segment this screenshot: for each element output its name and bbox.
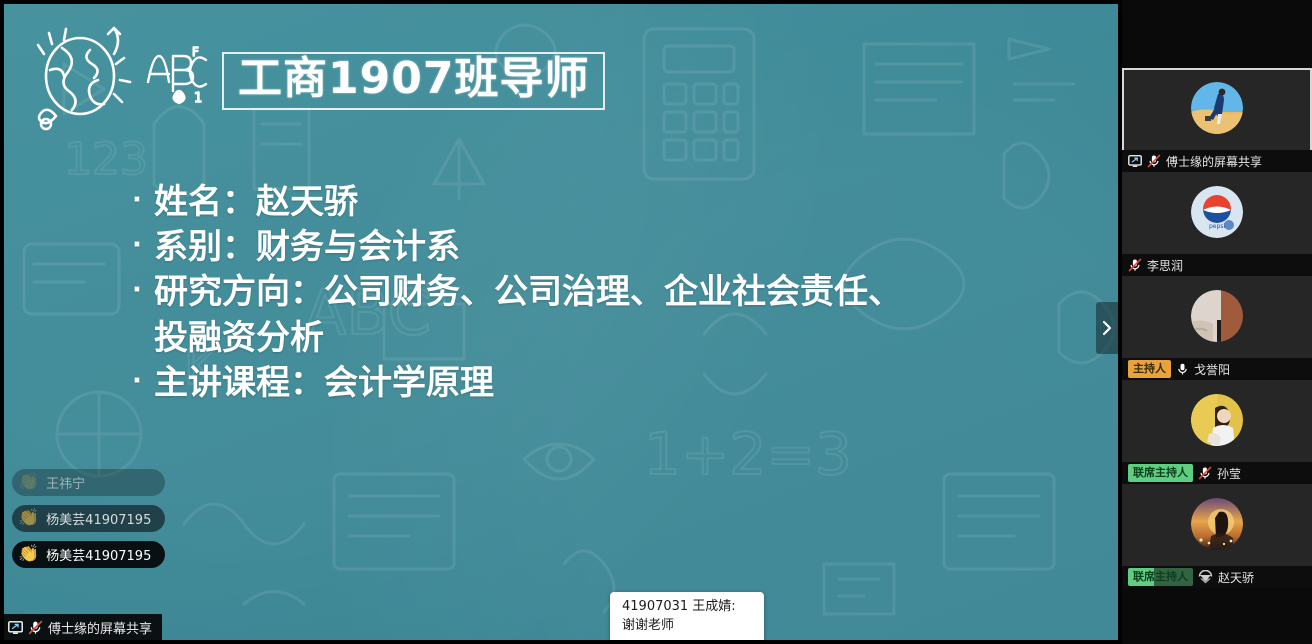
collapse-panel-button[interactable]	[1096, 302, 1118, 354]
svg-text:F: F	[192, 45, 199, 59]
share-bar-label: 傅士缘的屏幕共享	[48, 618, 152, 637]
avatar-wrap	[1122, 68, 1312, 148]
svg-text:1: 1	[194, 91, 202, 106]
avatar-wrap	[1122, 380, 1312, 460]
shared-screen-area[interactable]: ABC 123 1+2=3 K	[4, 4, 1118, 640]
bullet-marker: ·	[132, 180, 154, 220]
reaction-bubble: 👏 杨美芸41907195	[12, 541, 165, 568]
avatar-wrap	[1122, 276, 1312, 356]
chat-sender: 41907031 王成婧:	[622, 598, 752, 617]
globe-doodle-icon	[28, 24, 136, 132]
screen-share-status-bar: 傅士缘的屏幕共享	[4, 614, 162, 640]
participant-name-bar: 联席主持人 赵天骄	[1122, 566, 1312, 588]
reaction-bubble-list: 👏 王祎宁 👏 杨美芸41907195 👏 杨美芸41907195	[12, 469, 165, 568]
clap-icon: 👏	[18, 510, 39, 527]
mic-on-icon	[1176, 362, 1189, 376]
participant-rail[interactable]: 傅士缘的屏幕共享 pepsi	[1122, 0, 1312, 644]
meeting-window: ABC 123 1+2=3 K	[0, 0, 1312, 644]
presentation-slide: ABC 123 1+2=3 K	[4, 4, 1118, 640]
slide-header: F 1 工商1907班导师	[28, 24, 605, 132]
headset-icon	[1198, 570, 1213, 584]
avatar-wrap	[1122, 484, 1312, 564]
reaction-bubble: 👏 杨美芸41907195	[12, 505, 165, 532]
mic-muted-icon	[1128, 258, 1142, 272]
host-badge: 主持人	[1128, 360, 1171, 378]
svg-text:123: 123	[64, 134, 148, 185]
avatar	[1191, 498, 1243, 550]
reaction-name: 杨美芸41907195	[46, 509, 151, 528]
bullet-text: 研究方向：公司财务、公司治理、企业社会责任、	[154, 270, 1032, 315]
bullet-text: 姓名：赵天骄	[154, 180, 1032, 225]
avatar	[1191, 394, 1243, 446]
participant-tile[interactable]: 傅士缘的屏幕共享	[1122, 68, 1312, 172]
participant-name-bar: 主持人 戈誉阳	[1122, 358, 1312, 380]
bullet-text: 主讲课程：会计学原理	[154, 361, 1032, 406]
participant-name-bar: 联席主持人 孙莹	[1122, 462, 1312, 484]
chevron-right-icon	[1101, 320, 1113, 336]
participant-name: 孙莹	[1217, 465, 1241, 482]
avatar	[1191, 290, 1243, 342]
abc-doodle-icon: F 1	[142, 44, 208, 106]
participant-name-bar: 傅士缘的屏幕共享	[1122, 150, 1312, 172]
participant-name: 戈誉阳	[1194, 361, 1230, 378]
participant-tile[interactable]: pepsi 李思润	[1122, 172, 1312, 276]
page-title: 工商1907班导师	[238, 56, 589, 102]
mic-muted-icon	[28, 620, 43, 635]
cohost-badge: 联席主持人	[1128, 568, 1193, 586]
svg-text:pepsi: pepsi	[1209, 223, 1225, 230]
participant-tile[interactable]: 联席主持人 赵天骄	[1122, 484, 1312, 588]
participant-name: 李思润	[1147, 257, 1183, 274]
participant-name: 傅士缘的屏幕共享	[1166, 153, 1262, 170]
reaction-name: 王祎宁	[46, 473, 85, 492]
bullet-item: · 主讲课程：会计学原理	[132, 361, 1032, 406]
clap-icon: 👏	[18, 474, 39, 491]
mic-muted-icon	[1198, 466, 1212, 480]
chat-text: 谢谢老师	[622, 617, 752, 636]
participant-name-bar: 李思润	[1122, 254, 1312, 276]
bullet-item: · 系别：财务与会计系	[132, 225, 1032, 270]
bullet-item: · 姓名：赵天骄	[132, 180, 1032, 225]
chat-message-popup[interactable]: 41907031 王成婧: 谢谢老师	[610, 592, 764, 640]
mic-muted-icon	[1147, 154, 1161, 168]
slide-title-box: 工商1907班导师	[222, 52, 605, 110]
avatar: pepsi	[1191, 186, 1243, 238]
participant-tile[interactable]: 主持人 戈誉阳	[1122, 276, 1312, 380]
bullet-text: 投融资分析	[154, 316, 1032, 361]
cohost-badge: 联席主持人	[1128, 464, 1193, 482]
bullet-marker: ·	[132, 361, 154, 401]
bullet-item: · 研究方向：公司财务、公司治理、企业社会责任、	[132, 270, 1032, 315]
participant-name: 赵天骄	[1218, 569, 1254, 586]
reaction-bubble: 👏 王祎宁	[12, 469, 165, 496]
bullet-marker: ·	[132, 270, 154, 310]
avatar-wrap: pepsi	[1122, 172, 1312, 252]
bullet-item-continuation: 投融资分析	[132, 316, 1032, 361]
clap-icon: 👏	[18, 546, 39, 563]
bullet-marker: ·	[132, 225, 154, 265]
participant-tile[interactable]: 联席主持人 孙莹	[1122, 380, 1312, 484]
svg-text:1+2=3: 1+2=3	[644, 420, 852, 488]
reaction-name: 杨美芸41907195	[46, 545, 151, 564]
screen-share-icon	[1128, 155, 1142, 167]
screen-share-icon	[8, 621, 23, 634]
bullet-text: 系别：财务与会计系	[154, 225, 1032, 270]
slide-bullet-list: · 姓名：赵天骄 · 系别：财务与会计系 · 研究方向：公司财务、公司治理、企业…	[132, 180, 1032, 406]
avatar	[1191, 82, 1243, 134]
